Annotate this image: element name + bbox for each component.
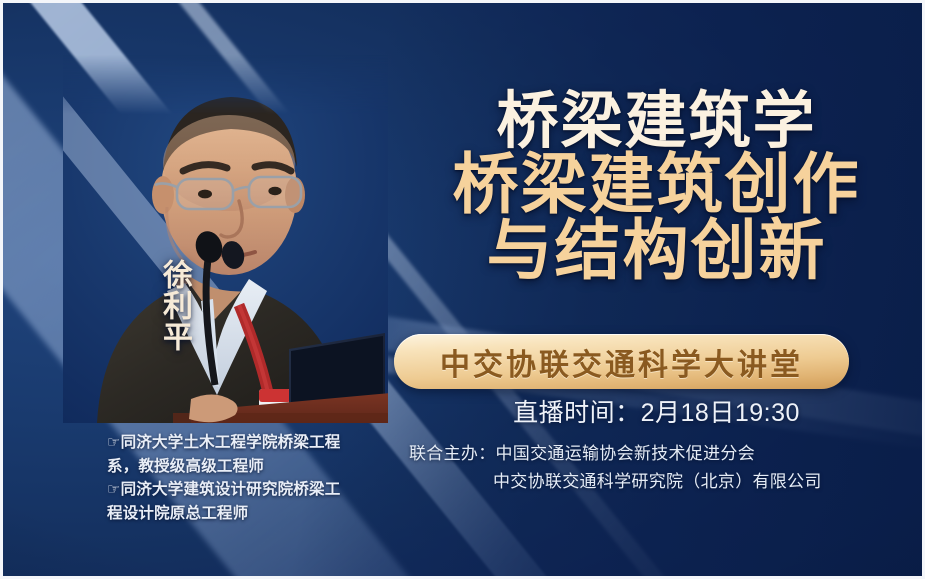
vignette-overlay bbox=[3, 3, 922, 576]
webinar-poster: 徐利平 ☞同济大学土木工程学院桥梁工程 系，教授级高级工程师 ☞程设计院原总工程… bbox=[0, 0, 925, 579]
